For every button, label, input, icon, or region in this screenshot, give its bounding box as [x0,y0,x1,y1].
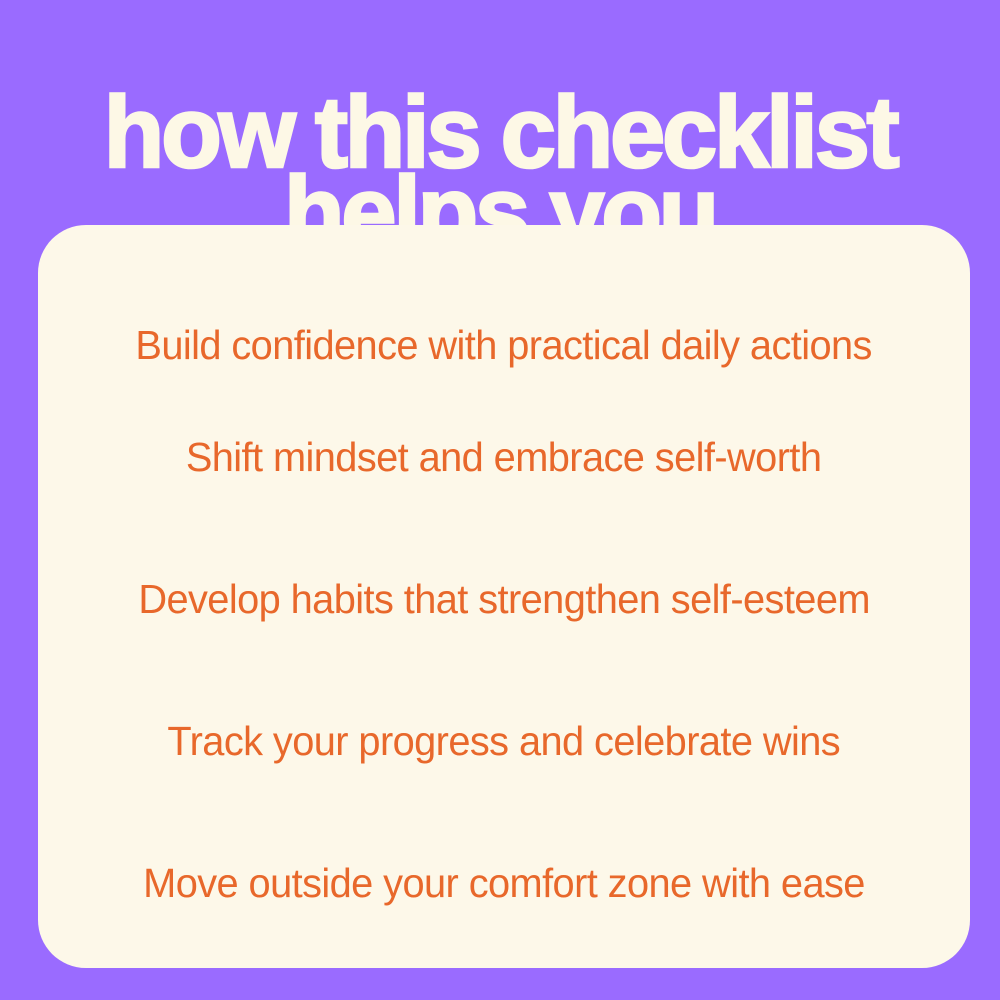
list-item: Track your progress and celebrate wins [38,671,970,813]
list-item: Move outside your comfort zone with ease [38,813,970,955]
list-item-label: Develop habits that strengthen self-este… [138,578,870,621]
list-item-label: Track your progress and celebrate wins [168,720,841,763]
list-item-label: Move outside your comfort zone with ease [143,862,865,905]
poster-canvas: how this checklist helps you Build confi… [0,0,1000,1000]
list-item-label: Build confidence with practical daily ac… [136,324,872,367]
list-item: Develop habits that strengthen self-este… [38,529,970,671]
list-item: Shift mindset and embrace self-worth [38,387,970,529]
checklist: Build confidence with practical daily ac… [38,225,970,955]
checklist-card: Build confidence with practical daily ac… [38,225,970,968]
list-item: Build confidence with practical daily ac… [38,225,970,387]
list-item-label: Shift mindset and embrace self-worth [186,436,822,479]
